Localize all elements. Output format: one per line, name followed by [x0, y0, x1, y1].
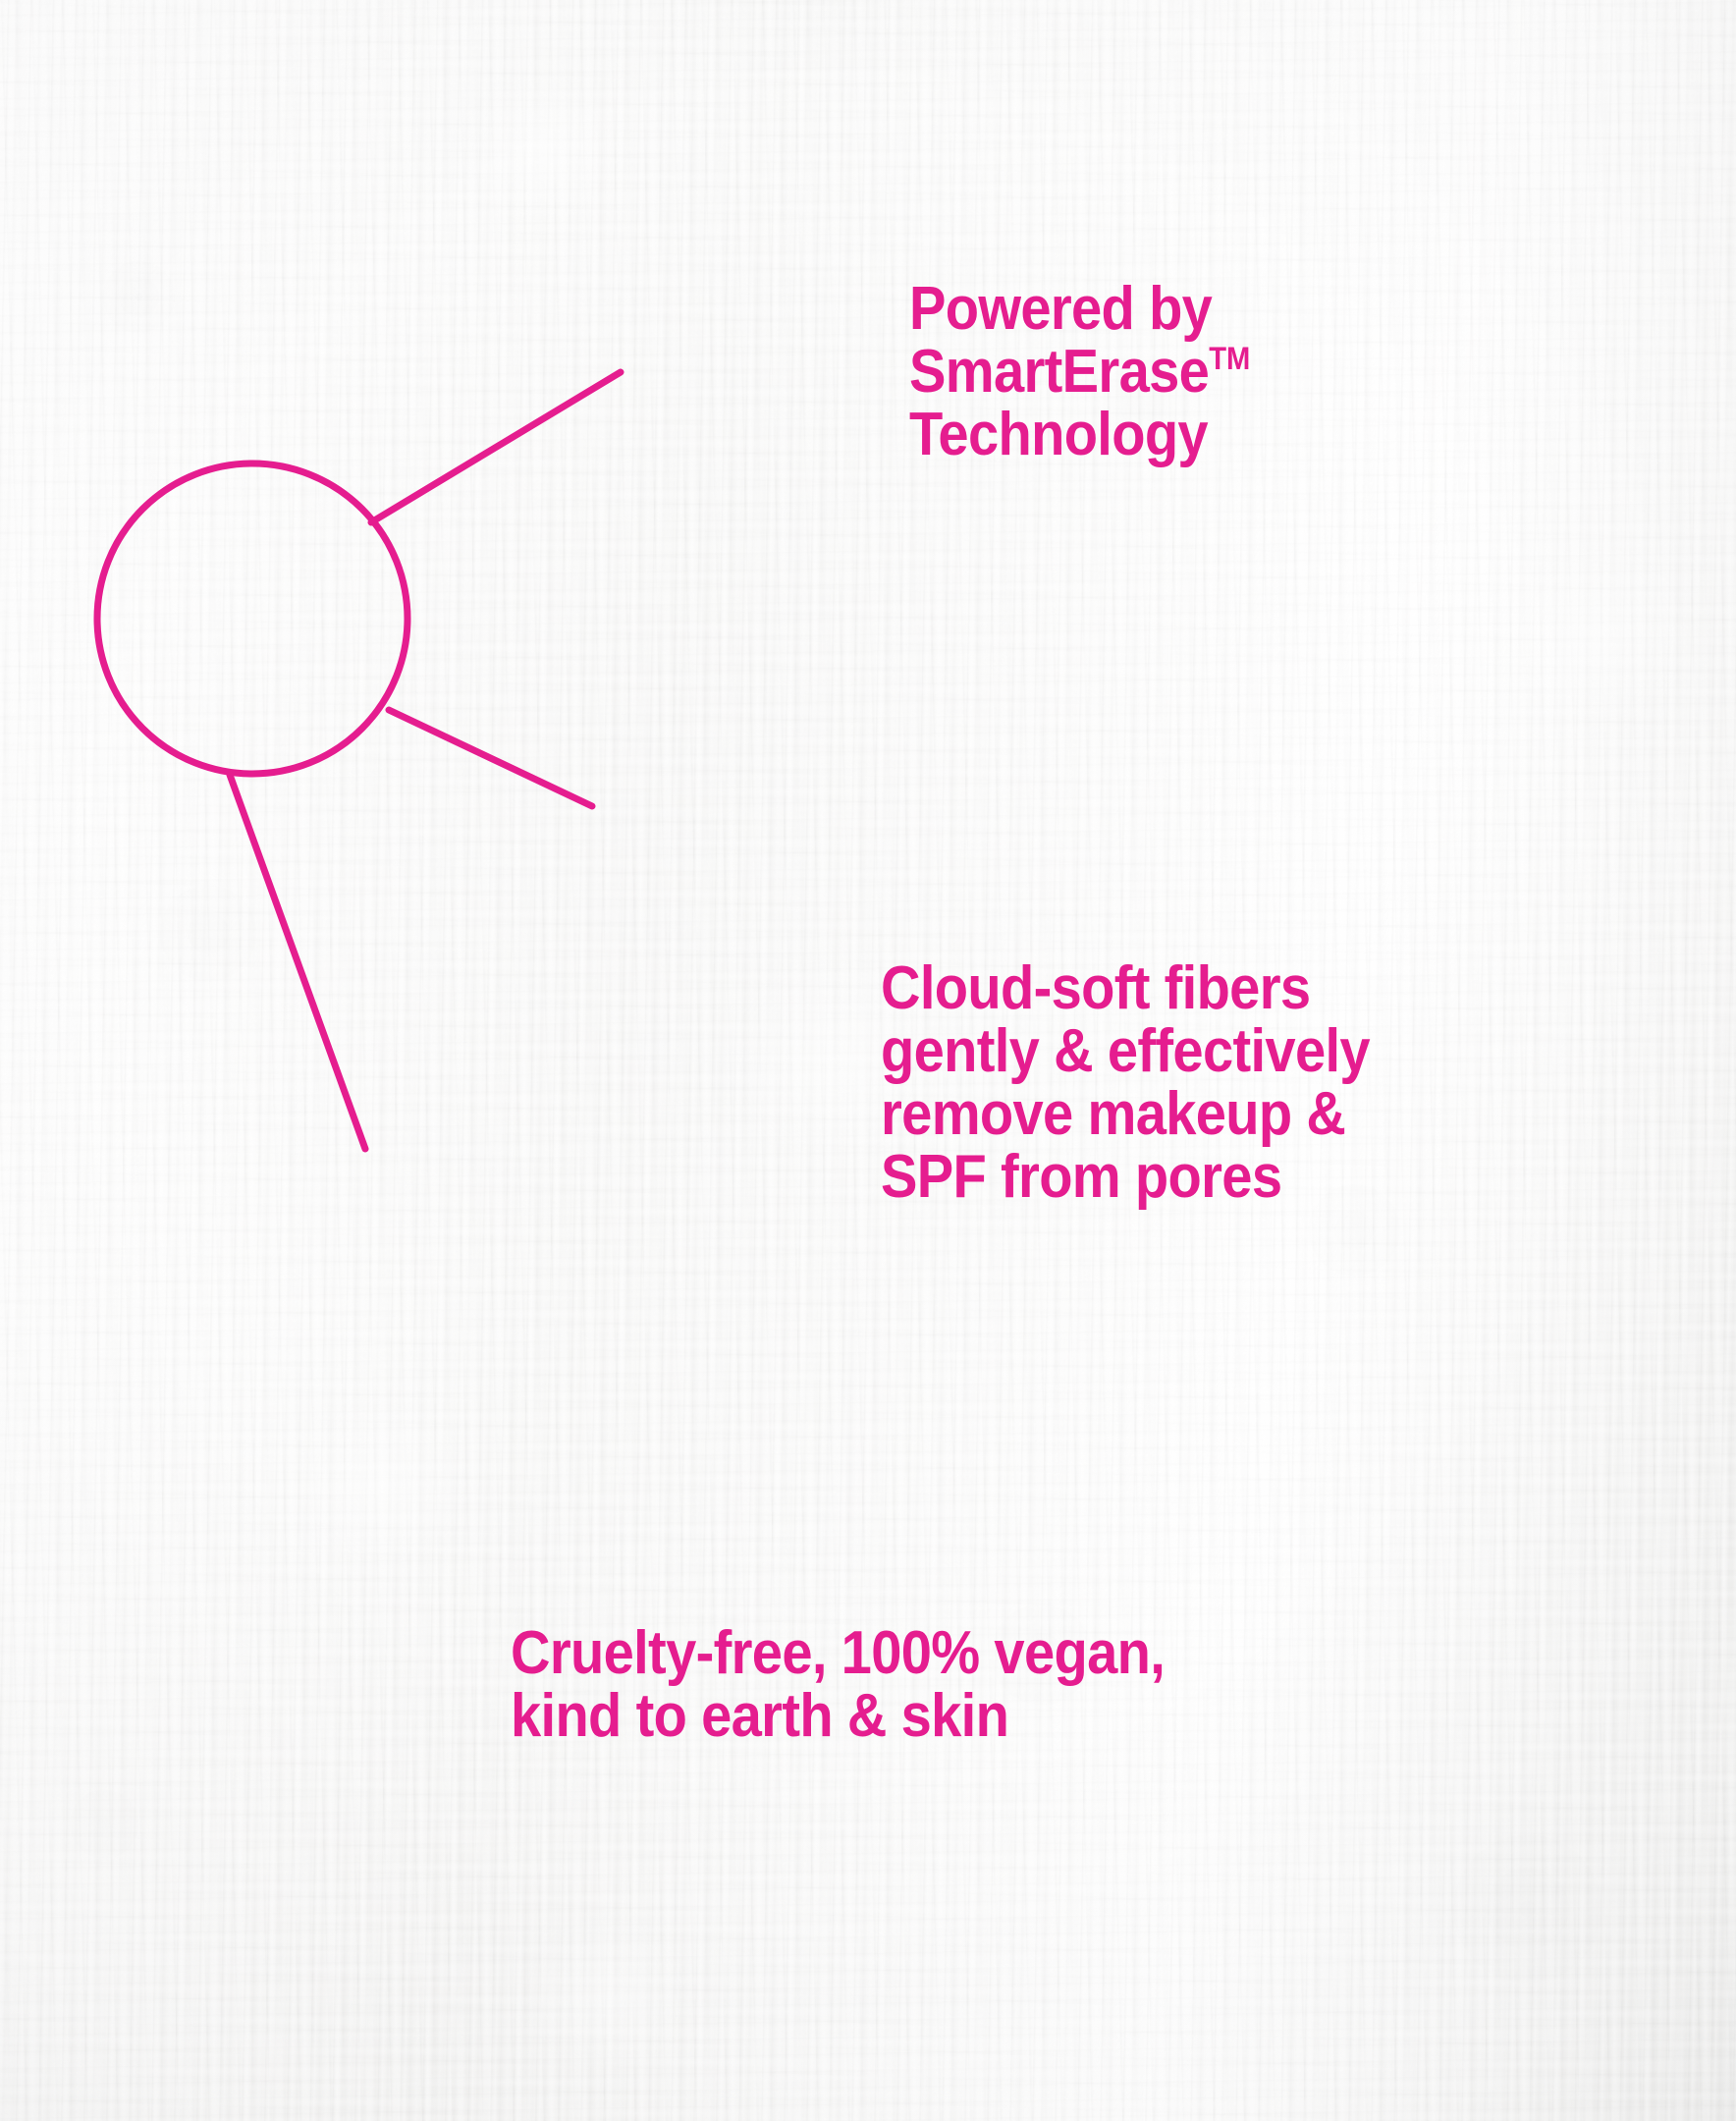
leader-line-vegan: [230, 775, 365, 1149]
callout-fibers-line-2: gently & effectively: [881, 1020, 1370, 1083]
callout-technology-line-3: Technology: [909, 404, 1250, 466]
callout-fibers-line-1: Cloud-soft fibers: [881, 957, 1370, 1020]
callout-diagram: [0, 0, 1736, 2121]
callout-technology: Powered by SmartEraseTM Technology: [909, 278, 1286, 466]
callout-vegan-line-1: Cruelty-free, 100% vegan,: [511, 1622, 1165, 1685]
leader-line-technology: [371, 372, 621, 522]
trademark-symbol: TM: [1209, 341, 1250, 376]
callout-technology-line-2-text: SmartErase: [909, 338, 1209, 406]
callout-fibers-line-4: SPF from pores: [881, 1146, 1370, 1209]
callout-fibers-line-3: remove makeup &: [881, 1083, 1370, 1146]
callout-vegan-line-2: kind to earth & skin: [511, 1685, 1165, 1748]
leader-line-fibers: [389, 710, 592, 806]
product-feature-callout-graphic: Powered by SmartEraseTM Technology Cloud…: [0, 0, 1736, 2121]
product-highlight-circle: [97, 463, 407, 774]
callout-technology-line-1: Powered by: [909, 278, 1250, 341]
callout-fibers: Cloud-soft fibers gently & effectively r…: [881, 957, 1421, 1210]
callout-technology-line-2: SmartEraseTM: [909, 341, 1250, 404]
callout-vegan: Cruelty-free, 100% vegan, kind to earth …: [511, 1622, 1233, 1748]
